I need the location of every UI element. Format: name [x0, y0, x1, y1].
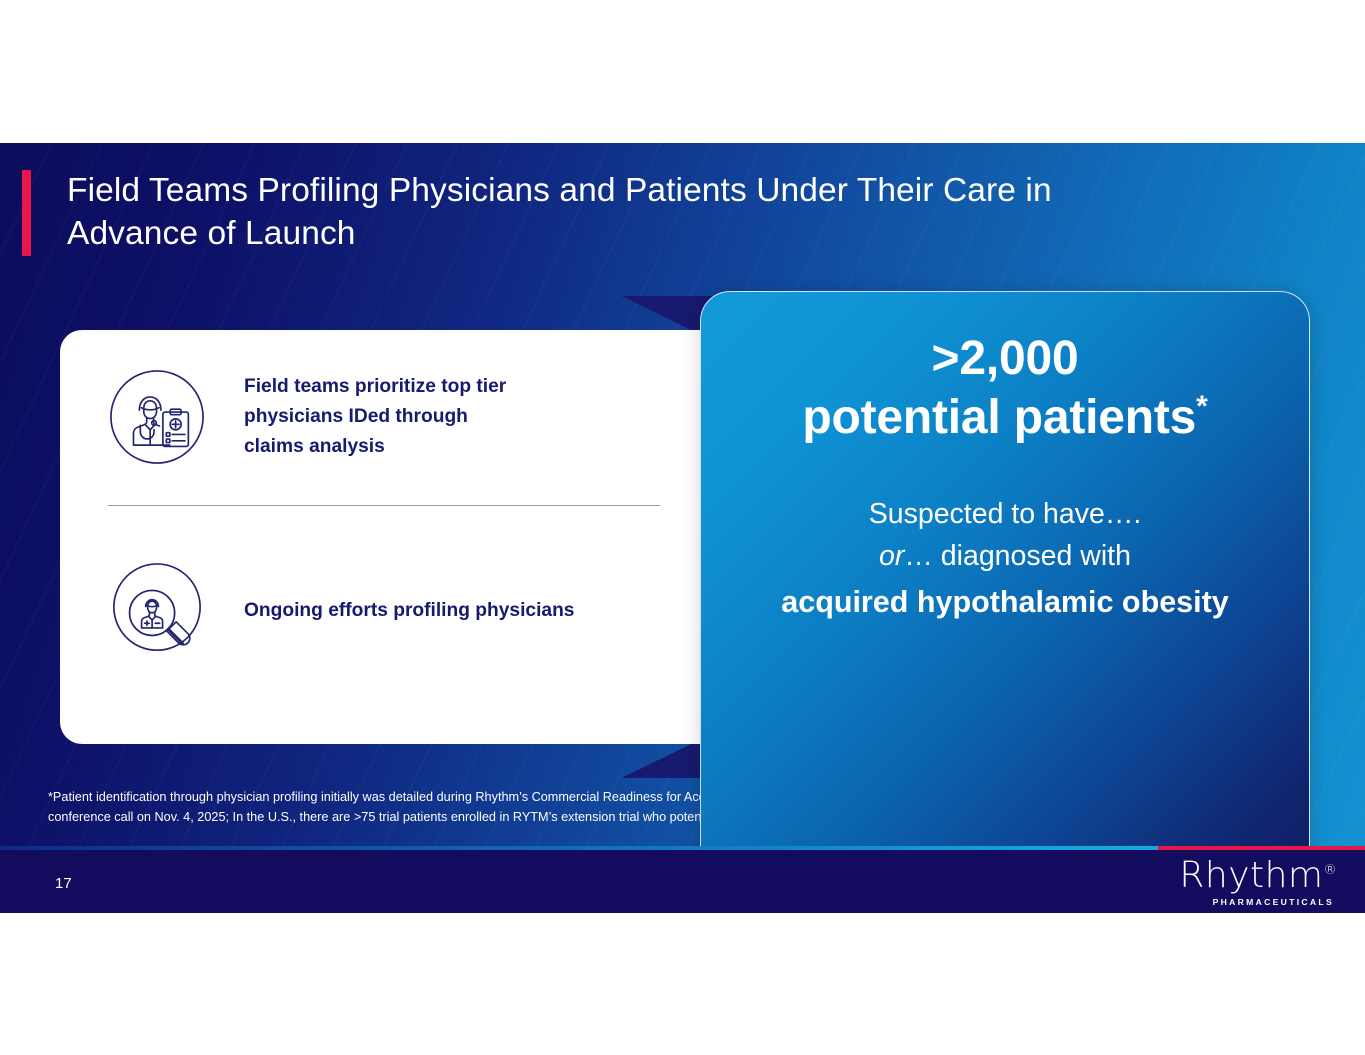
list-item-label: Ongoing efforts profiling physicians [244, 596, 574, 626]
list-item: Field teams prioritize top tier physicia… [108, 368, 708, 466]
list-item-label: Field teams prioritize top tier physicia… [244, 372, 506, 463]
page-number: 17 [55, 875, 72, 892]
stat-subtext: Suspected to have…. or… diagnosed with [839, 493, 1172, 577]
list-item: Ongoing efforts profiling physicians [108, 562, 708, 660]
brand-tagline: PHARMACEUTICALS [1179, 897, 1334, 907]
stat-subtext-line1: Suspected to have…. [869, 498, 1142, 530]
highlight-stat-card: >2,000 potential patients* Suspected to … [700, 291, 1310, 913]
magnifier-physician-icon [108, 562, 206, 660]
slide-footer: 17 Rhythm® PHARMACEUTICALS [0, 850, 1365, 913]
stat-subtext-emphasis: or [879, 540, 904, 572]
presentation-slide: Field Teams Profiling Physicians and Pat… [0, 143, 1365, 913]
white-content-card: Field teams prioritize top tier physicia… [60, 330, 728, 744]
footer-accent-line-pink [1158, 846, 1365, 850]
stat-footnote-marker: * [1196, 390, 1207, 423]
brand-logo: Rhythm® PHARMACEUTICALS [1179, 858, 1337, 907]
physician-clipboard-icon [108, 368, 206, 466]
card-divider [108, 505, 660, 506]
brand-wordmark-text: Rhythm [1179, 855, 1323, 896]
registered-trademark-icon: ® [1324, 863, 1338, 878]
stat-headline: >2,000 potential patients* [782, 330, 1227, 447]
page-title: Field Teams Profiling Physicians and Pat… [67, 170, 1052, 256]
stat-label: potential patients [802, 391, 1196, 444]
stat-condition-name: acquired hypothalamic obesity [753, 581, 1256, 624]
stat-number: >2,000 [932, 332, 1079, 385]
title-accent-bar [22, 170, 31, 256]
stat-subtext-line2: … diagnosed with [904, 540, 1131, 572]
slide-title-block: Field Teams Profiling Physicians and Pat… [22, 170, 1202, 256]
brand-wordmark: Rhythm® [1179, 858, 1337, 894]
